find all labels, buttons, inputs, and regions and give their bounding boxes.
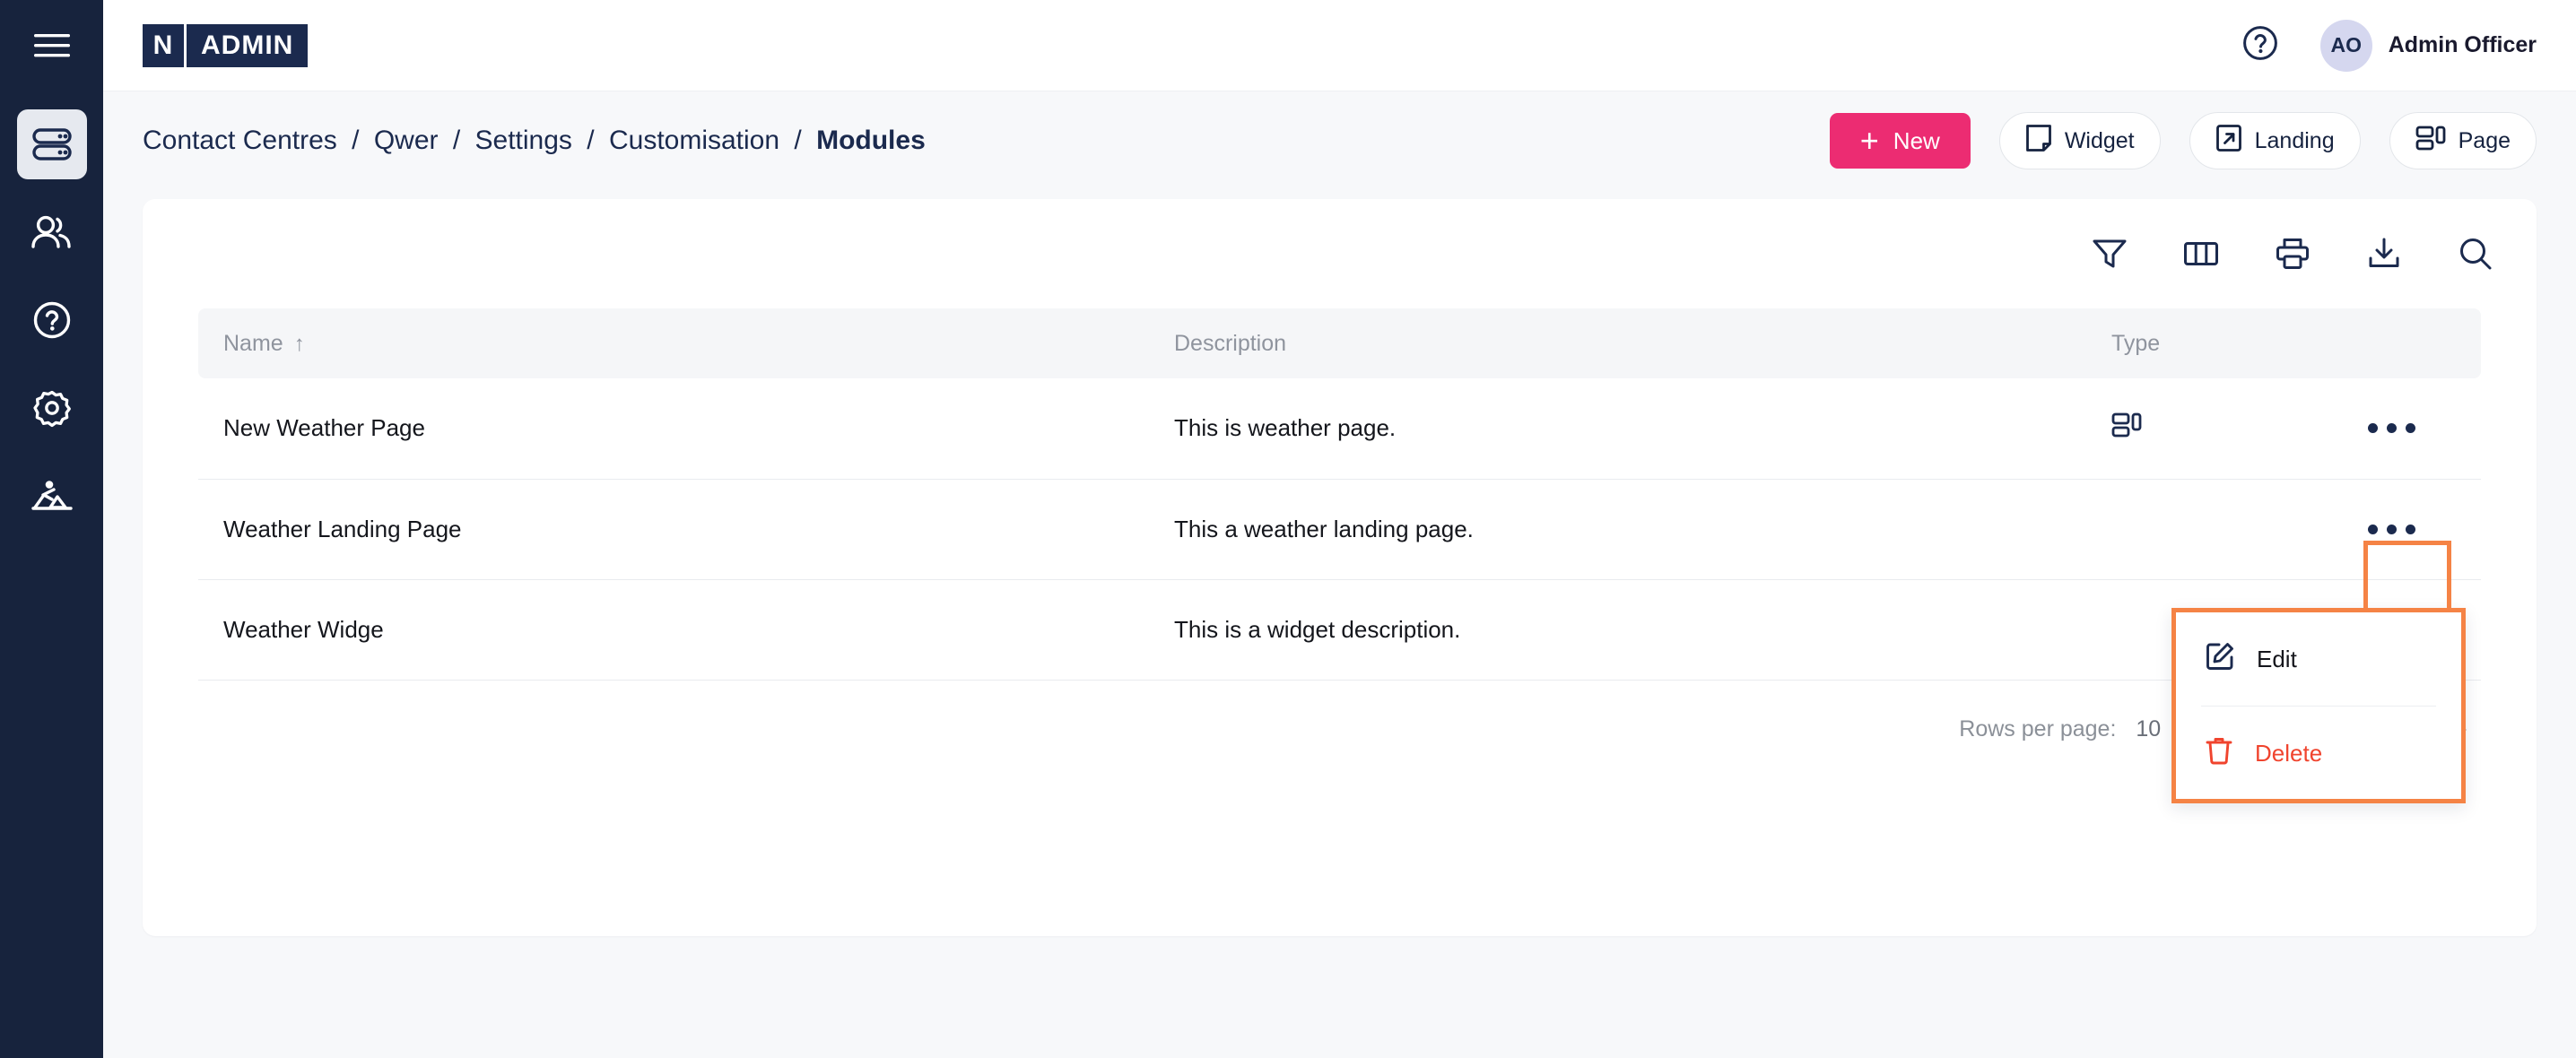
top-bar: N ADMIN AO Admin Officer bbox=[103, 0, 2576, 91]
page-layout-icon bbox=[2111, 417, 2142, 444]
table-body: New Weather Page This is weather page. bbox=[198, 378, 2481, 680]
sidebar-item-maintenance[interactable] bbox=[17, 461, 87, 531]
page-button-label: Page bbox=[2459, 128, 2511, 154]
content-card: Name↑ Description Type New Weather Page … bbox=[143, 199, 2537, 936]
cell-actions bbox=[2302, 378, 2481, 479]
cell-type bbox=[2086, 378, 2302, 479]
table-head: Name↑ Description Type bbox=[198, 308, 2481, 378]
breadcrumb-item-customisation[interactable]: Customisation bbox=[609, 126, 779, 155]
menu-item-edit[interactable]: Edit bbox=[2176, 612, 2461, 706]
user-menu[interactable]: AO Admin Officer bbox=[2320, 20, 2537, 72]
breadcrumb-separator: / bbox=[794, 126, 801, 155]
user-name: Admin Officer bbox=[2389, 32, 2537, 58]
page-header: Contact Centres / Qwer / Settings / Cust… bbox=[103, 91, 2576, 190]
trash-icon bbox=[2205, 735, 2233, 772]
modules-table: Name↑ Description Type New Weather Page … bbox=[198, 308, 2481, 681]
kebab-menu-icon[interactable] bbox=[2348, 504, 2434, 554]
column-header-name[interactable]: Name↑ bbox=[198, 308, 1149, 378]
search-icon[interactable] bbox=[2458, 236, 2493, 272]
breadcrumb-separator: / bbox=[587, 126, 594, 155]
avatar: AO bbox=[2320, 20, 2372, 72]
help-button[interactable] bbox=[2241, 24, 2279, 66]
plus-icon: + bbox=[1860, 125, 1879, 157]
external-link-icon bbox=[2215, 124, 2242, 159]
menu-item-edit-label: Edit bbox=[2257, 646, 2297, 673]
edit-pencil-icon bbox=[2205, 641, 2235, 678]
cell-name: New Weather Page bbox=[198, 378, 1149, 479]
column-header-type[interactable]: Type bbox=[2086, 308, 2302, 378]
breadcrumb-separator: / bbox=[352, 126, 359, 155]
breadcrumb-item-modules: Modules bbox=[816, 126, 926, 155]
sidebar-item-servers[interactable] bbox=[17, 109, 87, 179]
print-icon[interactable] bbox=[2275, 237, 2311, 271]
table-row[interactable]: Weather Landing Page This a weather land… bbox=[198, 479, 2481, 579]
landing-button-label: Landing bbox=[2255, 128, 2335, 154]
cell-type bbox=[2086, 479, 2302, 579]
column-header-actions bbox=[2302, 308, 2481, 378]
page-layout-icon bbox=[2415, 125, 2446, 158]
breadcrumb-item-settings[interactable]: Settings bbox=[475, 126, 572, 155]
page-button[interactable]: Page bbox=[2389, 112, 2537, 169]
widget-page-icon bbox=[2025, 124, 2052, 159]
table-toolbar bbox=[143, 199, 2537, 308]
sidebar-item-help[interactable] bbox=[17, 285, 87, 355]
users-icon bbox=[30, 215, 74, 249]
menu-item-delete-label: Delete bbox=[2255, 740, 2322, 767]
server-stack-icon bbox=[31, 126, 73, 163]
widget-button[interactable]: Widget bbox=[1999, 112, 2161, 169]
sidebar-item-users[interactable] bbox=[17, 197, 87, 267]
help-circle-icon bbox=[32, 300, 72, 340]
cell-name: Weather Widge bbox=[198, 579, 1149, 680]
column-header-name-label: Name bbox=[223, 331, 283, 356]
maintenance-worker-icon bbox=[30, 478, 74, 514]
columns-icon[interactable] bbox=[2183, 238, 2219, 270]
row-actions-menu: Edit Delete bbox=[2171, 608, 2466, 803]
cell-name: Weather Landing Page bbox=[198, 479, 1149, 579]
table-row[interactable]: Weather Widge This is a widget descripti… bbox=[198, 579, 2481, 680]
sidebar bbox=[0, 0, 103, 1058]
breadcrumb: Contact Centres / Qwer / Settings / Cust… bbox=[143, 126, 926, 156]
column-header-description[interactable]: Description bbox=[1149, 308, 2086, 378]
download-icon[interactable] bbox=[2366, 237, 2402, 271]
app-logo[interactable]: N ADMIN bbox=[143, 24, 308, 67]
new-button[interactable]: + New bbox=[1830, 113, 1971, 169]
breadcrumb-separator: / bbox=[453, 126, 460, 155]
hamburger-menu-icon[interactable] bbox=[0, 0, 103, 91]
gear-icon bbox=[32, 388, 72, 428]
breadcrumb-item-contact-centres[interactable]: Contact Centres bbox=[143, 126, 337, 155]
new-button-label: New bbox=[1893, 127, 1940, 155]
cell-description: This is a widget description. bbox=[1149, 579, 2086, 680]
filter-icon[interactable] bbox=[2092, 237, 2128, 271]
app-root: N ADMIN AO Admin Officer bbox=[0, 0, 2576, 1058]
sidebar-item-settings[interactable] bbox=[17, 373, 87, 443]
breadcrumb-item-qwer[interactable]: Qwer bbox=[374, 126, 439, 155]
logo-text: ADMIN bbox=[187, 24, 308, 67]
sort-asc-icon: ↑ bbox=[294, 332, 305, 356]
main-pane: N ADMIN AO Admin Officer bbox=[103, 0, 2576, 1058]
cell-actions bbox=[2302, 479, 2481, 579]
cell-description: This is weather page. bbox=[1149, 378, 2086, 479]
logo-mark: N bbox=[143, 24, 184, 67]
table-row[interactable]: New Weather Page This is weather page. bbox=[198, 378, 2481, 479]
rows-per-page-value: 10 bbox=[2136, 716, 2161, 742]
kebab-menu-icon[interactable] bbox=[2348, 403, 2434, 454]
rows-per-page-label: Rows per page: bbox=[1959, 716, 2116, 742]
landing-button[interactable]: Landing bbox=[2189, 112, 2361, 169]
question-circle-icon bbox=[2241, 24, 2279, 66]
widget-button-label: Widget bbox=[2065, 128, 2135, 154]
table-header-row: Name↑ Description Type bbox=[198, 308, 2481, 378]
menu-item-delete[interactable]: Delete bbox=[2176, 707, 2461, 800]
cell-description: This a weather landing page. bbox=[1149, 479, 2086, 579]
